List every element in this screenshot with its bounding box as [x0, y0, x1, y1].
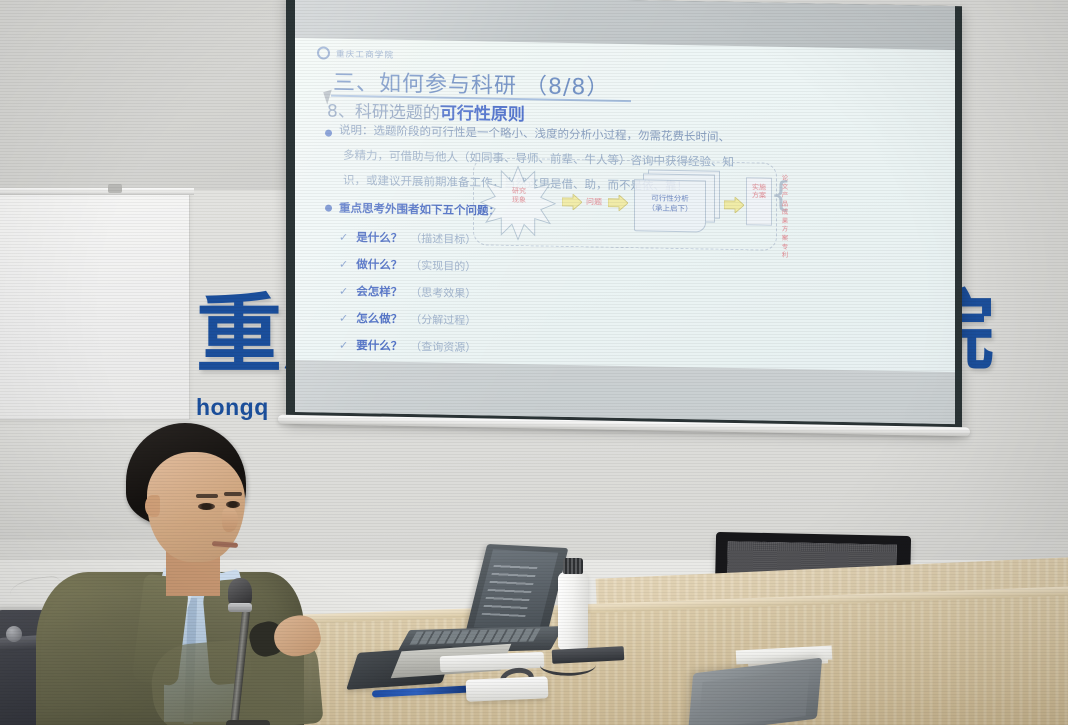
whiteboard [0, 192, 190, 420]
arrow-right-icon-2 [608, 195, 628, 211]
checklist-answer: （描述目标） [410, 230, 476, 247]
checklist-question: 做什么？ [356, 256, 402, 273]
check-icon: ✓ [339, 231, 348, 244]
slide-subtitle-bold: 可行性原则 [440, 104, 525, 126]
slide-logo: 重庆工商学院 [317, 46, 394, 60]
eye-left [198, 503, 215, 510]
whiteboard-clip [108, 184, 122, 193]
wall-upper-left [0, 0, 290, 190]
checklist-item-2: ✓ 做什么？ （实现目的） [339, 256, 476, 275]
document-stack: 可行性分析 （承上启下） [634, 169, 720, 233]
diagram-doc-label-line2: （承上启下） [648, 204, 693, 214]
check-icon: ✓ [339, 339, 348, 352]
checklist-item-5: ✓ 要什么？ （查询资源） [339, 337, 476, 356]
diagram-doc-label: 可行性分析 （承上启下） [634, 193, 706, 215]
checklist-question: 会怎样？ [356, 283, 402, 300]
whiteboard-rail [0, 188, 194, 195]
diagram-star-label: 研究现象 [502, 187, 536, 205]
checklist-answer: （分解过程） [410, 311, 476, 328]
checklist-question: 是什么？ [356, 229, 402, 246]
checklist-item-1: ✓ 是什么？ （描述目标） [339, 229, 476, 248]
slide-logo-text: 重庆工商学院 [336, 47, 394, 60]
projection-screen-surface: 重庆工商学院 三、如何参与科研 （8/8） 8、科研选题的可行性原则 说明：选题… [295, 0, 955, 424]
checklist-question: 要什么？ [356, 337, 402, 354]
arrow-right-icon-3 [724, 197, 744, 213]
checklist-item-4: ✓ 怎么做？ （分解过程） [339, 310, 476, 329]
white-device-front[interactable] [466, 676, 549, 702]
ring-icon [317, 46, 330, 59]
diagram-mid-label: 问题 [586, 196, 602, 207]
wall-right [960, 0, 1068, 540]
eye-right [226, 501, 240, 508]
bullet-dot-icon [325, 130, 332, 137]
microphone-base [226, 720, 270, 725]
checklist-item-3: ✓ 会怎样？ （思考效果） [339, 283, 476, 302]
eyebrow-right [224, 492, 242, 496]
bullet-dot-icon [325, 205, 332, 212]
ear [145, 495, 160, 517]
microphone-ring [228, 603, 252, 612]
slide-subtitle: 8、科研选题的可行性原则 [327, 97, 525, 126]
slide-diagram: 研究现象 问题 [473, 157, 777, 251]
checklist-answer: （查询资源） [410, 338, 476, 355]
arrow-right-icon-1 [562, 194, 582, 210]
projection-screen: 重庆工商学院 三、如何参与科研 （8/8） 8、科研选题的可行性原则 说明：选题… [286, 0, 962, 434]
bottle-body [558, 572, 588, 650]
slide-subtitle-number: 8、 [327, 102, 355, 123]
diagram-brace-list: 论文产品成果方案专利 [780, 174, 790, 260]
slide-canvas: 重庆工商学院 三、如何参与科研 （8/8） 8、科研选题的可行性原则 说明：选题… [295, 38, 955, 372]
checklist-question: 怎么做？ [356, 310, 402, 327]
check-icon: ✓ [339, 258, 348, 271]
slide-subtitle-plain: 科研选题的 [355, 102, 440, 124]
checklist-answer: （实现目的） [410, 257, 476, 274]
seated-presenter [0, 400, 340, 725]
eyebrow-left [196, 494, 218, 498]
checklist-answer: （思考效果） [410, 284, 476, 301]
check-icon: ✓ [339, 285, 348, 298]
check-icon: ✓ [339, 312, 348, 325]
diagram-doc-label-line1: 可行性分析 [651, 193, 689, 203]
bullet-1-line-1: 说明：选题阶段的可行性是一个略小、浅度的分析小过程，勿需花费长时间、 [339, 125, 730, 144]
conference-room-photo: 重庆 hongq 院 are 重庆工商学院 三、如何参与科研 （8/8） 8、科… [0, 0, 1068, 725]
diagram-end-label: 实施方案 [752, 183, 766, 200]
bullet-1: 说明：选题阶段的可行性是一个略小、浅度的分析小过程，勿需花费长时间、 [325, 125, 730, 144]
water-bottle[interactable] [558, 558, 588, 650]
bottle-cap[interactable] [563, 558, 583, 574]
laptop[interactable] [404, 546, 566, 656]
